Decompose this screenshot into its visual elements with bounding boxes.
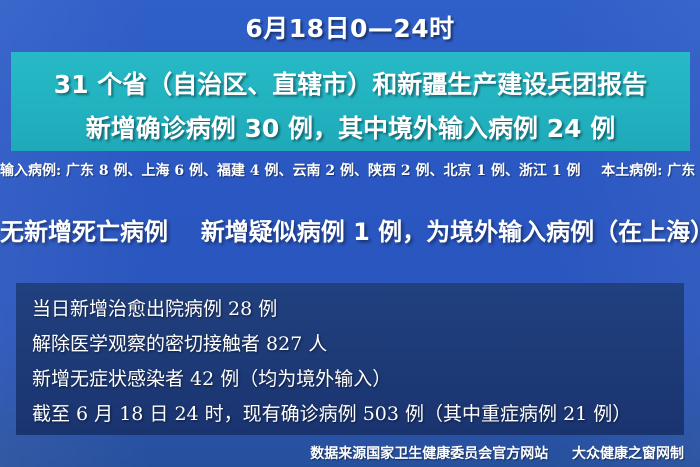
source-attribution: 数据来源国家卫生健康委员会官方网站 大众健康之窗网制 bbox=[0, 443, 684, 463]
imported-cases-label: 输入病例: bbox=[0, 163, 61, 179]
producer-text: 大众健康之窗网制 bbox=[572, 446, 684, 462]
data-source-text: 数据来源国家卫生健康委员会官方网站 bbox=[310, 446, 548, 462]
stat-row: 新增无症状感染者 42 例（均为境外输入） bbox=[32, 364, 391, 391]
statistics-panel: 当日新增治愈出院病例 28 例 解除医学观察的密切接触者 827 人 新增无症状… bbox=[16, 283, 684, 435]
teal-banner-line-1: 31 个省（自治区、直辖市）和新疆生产建设兵团报告 bbox=[11, 65, 690, 101]
teal-banner-line-2: 新增确诊病例 30 例，其中境外输入病例 24 例 bbox=[11, 109, 690, 145]
imported-cases-detail: 广东 8 例、上海 6 例、福建 4 例、云南 2 例、陕西 2 例、北京 1 … bbox=[66, 163, 580, 179]
teal-banner: 31 个省（自治区、直辖市）和新疆生产建设兵团报告 新增确诊病例 30 例，其中… bbox=[11, 52, 690, 151]
statistics-list: 当日新增治愈出院病例 28 例 解除医学观察的密切接触者 827 人 新增无症状… bbox=[16, 283, 684, 435]
highlight-statement: 无新增死亡病例 新增疑似病例 1 例，为境外输入病例（在上海） bbox=[0, 212, 700, 247]
local-cases-label: 本土病例: bbox=[601, 163, 662, 179]
stat-row: 截至 6 月 18 日 24 时，现有确诊病例 503 例（其中重症病例 21 … bbox=[32, 399, 631, 426]
infographic-poster: 6月18日0—24时 31 个省（自治区、直辖市）和新疆生产建设兵团报告 新增确… bbox=[0, 0, 700, 467]
date-title: 6月18日0—24时 bbox=[0, 9, 700, 45]
local-cases-detail: 广东 6 例 bbox=[667, 163, 700, 179]
new-suspected-text: 新增疑似病例 1 例，为境外输入病例（在上海） bbox=[201, 218, 700, 246]
no-new-deaths-text: 无新增死亡病例 bbox=[0, 218, 168, 246]
stat-row: 当日新增治愈出院病例 28 例 bbox=[32, 294, 277, 321]
case-breakdown-line: 输入病例: 广东 8 例、上海 6 例、福建 4 例、云南 2 例、陕西 2 例… bbox=[0, 160, 700, 180]
stat-row: 解除医学观察的密切接触者 827 人 bbox=[32, 329, 327, 356]
